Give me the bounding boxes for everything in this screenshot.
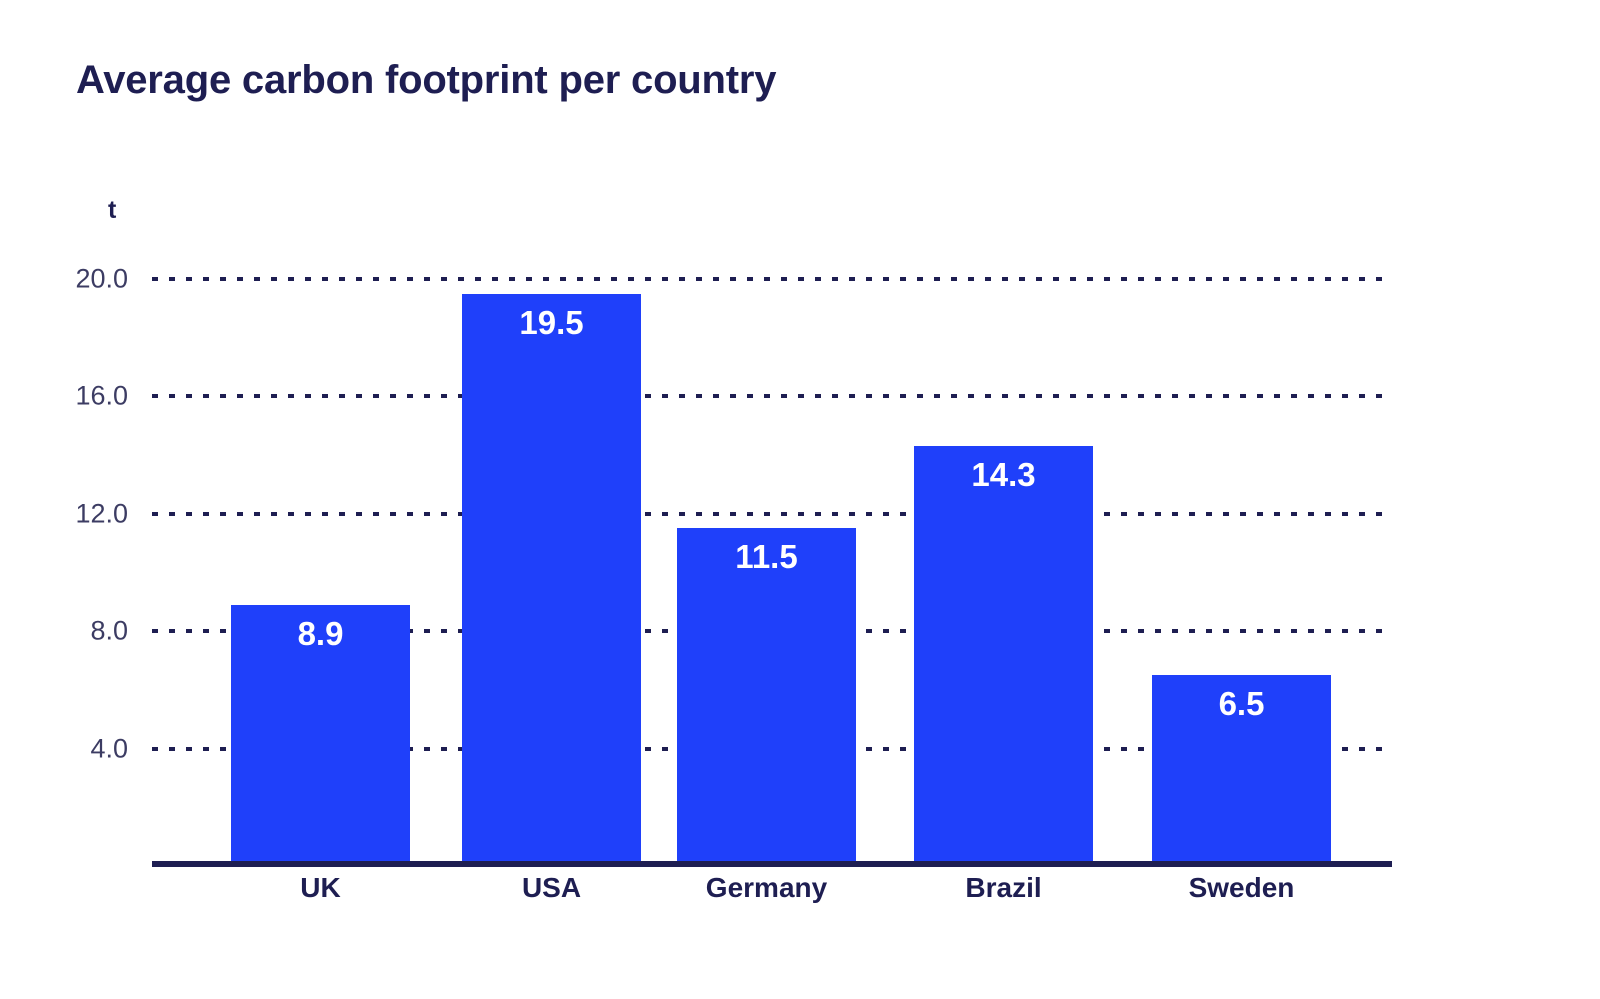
y-axis-unit-label: t: [108, 196, 116, 225]
y-tick-label-12: 12.0: [8, 499, 128, 530]
bar-usa[interactable]: [462, 294, 641, 866]
bar-value-germany: 11.5: [677, 538, 856, 576]
bar-group-sweden[interactable]: 6.5 Sweden: [1152, 260, 1331, 866]
carbon-footprint-bar-chart: Average carbon footprint per country t 2…: [0, 0, 1600, 999]
x-tick-label-usa: USA: [462, 872, 641, 904]
bar-brazil[interactable]: [914, 446, 1093, 866]
bar-value-usa: 19.5: [462, 304, 641, 342]
bar-group-brazil[interactable]: 14.3 Brazil: [914, 260, 1093, 866]
x-tick-label-brazil: Brazil: [914, 872, 1093, 904]
y-tick-label-8: 8.0: [8, 616, 128, 647]
x-tick-label-germany: Germany: [677, 872, 856, 904]
x-tick-label-uk: UK: [231, 872, 410, 904]
bar-group-usa[interactable]: 19.5 USA: [462, 260, 641, 866]
bar-value-brazil: 14.3: [914, 456, 1093, 494]
bar-value-sweden: 6.5: [1152, 685, 1331, 723]
x-tick-label-sweden: Sweden: [1152, 872, 1331, 904]
bar-germany[interactable]: [677, 528, 856, 866]
plot-area: 8.9 UK 19.5 USA 11.5 Germany 14.3 Brazil…: [152, 260, 1390, 866]
bar-group-uk[interactable]: 8.9 UK: [231, 260, 410, 866]
bar-value-uk: 8.9: [231, 615, 410, 653]
x-axis-baseline: [152, 861, 1392, 867]
y-axis-tick-labels: 20.0 16.0 12.0 8.0 4.0: [0, 260, 128, 866]
y-tick-label-20: 20.0: [8, 264, 128, 295]
y-tick-label-4: 4.0: [8, 734, 128, 765]
chart-title: Average carbon footprint per country: [76, 58, 776, 103]
bar-group-germany[interactable]: 11.5 Germany: [677, 260, 856, 866]
y-tick-label-16: 16.0: [8, 381, 128, 412]
